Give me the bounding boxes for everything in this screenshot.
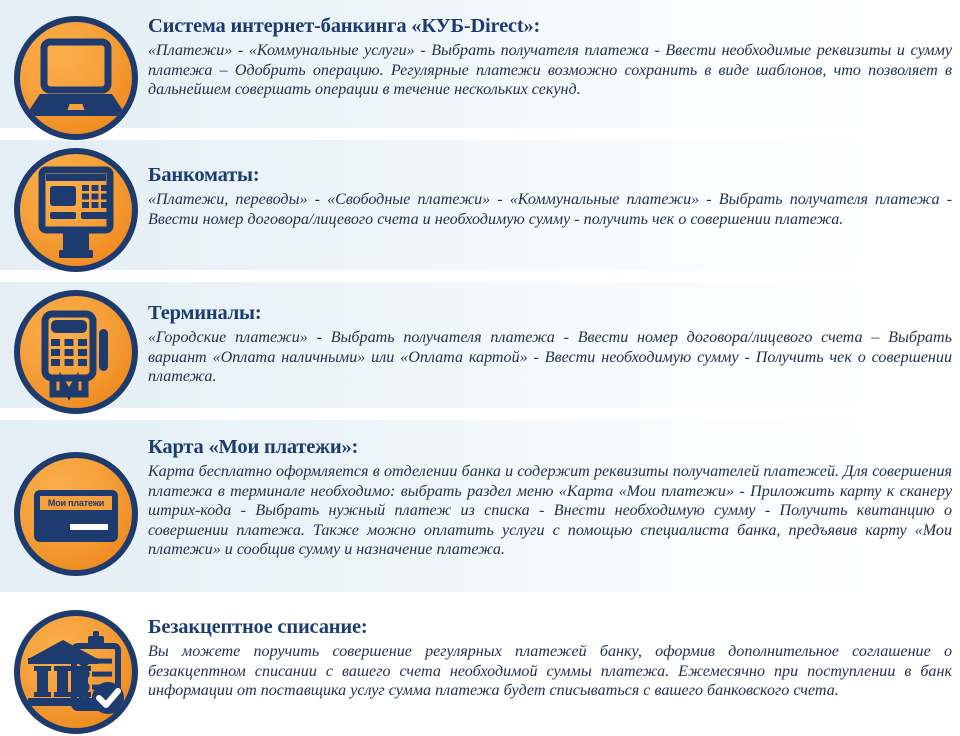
- payment-terminal-icon: [14, 290, 138, 414]
- payment-terminal-icon-wrapper: [14, 290, 138, 414]
- atm-icon: [14, 148, 138, 272]
- heading-text: Терминалы: [148, 302, 255, 324]
- atm-text: Банкоматы: «Платежи, переводы» - «Свобод…: [148, 163, 952, 229]
- heading-colon: :: [253, 164, 260, 186]
- heading-colon: :: [361, 616, 368, 638]
- bank-checklist-icon-wrapper: [14, 610, 138, 734]
- atm-icon-wrapper: [14, 148, 138, 272]
- laptop-icon: [14, 16, 138, 140]
- heading-colon: :: [352, 436, 359, 458]
- section-body: Карта бесплатно оформляется в отделении …: [148, 462, 952, 560]
- section-body: «Платежи» - «Коммунальные услуги» - Выбр…: [148, 41, 952, 100]
- section-heading: Карта «Мои платежи»:: [148, 435, 952, 459]
- section-body: Вы можете поручить совершение регулярных…: [148, 642, 952, 701]
- heading-colon: :: [255, 302, 262, 324]
- my-payments-card-text: Карта «Мои платежи»: Карта бесплатно офо…: [148, 435, 952, 560]
- payment-card-icon-wrapper: Мои платежи: [14, 452, 138, 576]
- heading-text: Банкоматы: [148, 164, 253, 186]
- internet-banking-text: Система интернет-банкинга «КУБ-Direct»: …: [148, 14, 952, 100]
- heading-text: Безакцептное списание: [148, 616, 361, 638]
- laptop-icon-wrapper: [14, 16, 138, 140]
- payment-methods-infographic: Система интернет-банкинга «КУБ-Direct»: …: [0, 0, 960, 736]
- bank-checklist-icon: [14, 610, 138, 734]
- terminals-text: Терминалы: «Городские платежи» - Выбрать…: [148, 301, 952, 387]
- section-heading: Банкоматы:: [148, 163, 952, 187]
- section-heading: Система интернет-банкинга «КУБ-Direct»:: [148, 14, 952, 38]
- section-heading: Терминалы:: [148, 301, 952, 325]
- payment-card-icon: Мои платежи: [14, 452, 138, 576]
- heading-colon: :: [534, 15, 541, 37]
- heading-text: Карта «Мои платежи»: [148, 436, 352, 458]
- section-body: «Городские платежи» - Выбрать получателя…: [148, 328, 952, 387]
- direct-debit-text: Безакцептное списание: Вы можете поручит…: [148, 615, 952, 701]
- section-heading: Безакцептное списание:: [148, 615, 952, 639]
- heading-text: Система интернет-банкинга «КУБ-Direct»: [148, 15, 534, 37]
- card-label: Мои платежи: [40, 496, 112, 510]
- section-body: «Платежи, переводы» - «Свободные платежи…: [148, 190, 952, 229]
